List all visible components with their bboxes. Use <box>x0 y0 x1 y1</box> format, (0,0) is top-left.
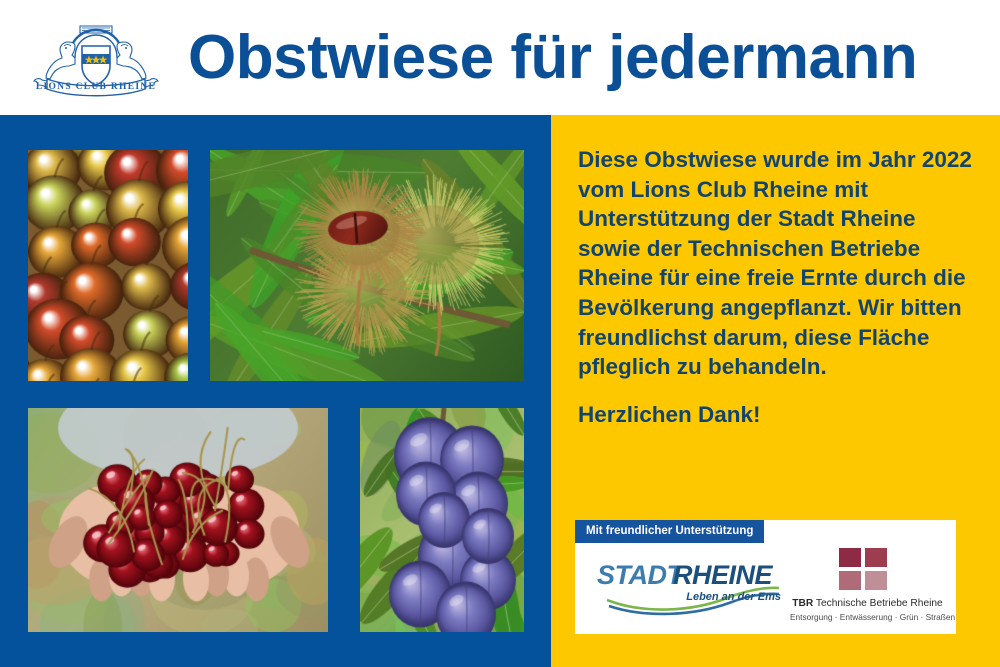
stadt-rheine-logo: STADT RHEINE Leben an der Ems <box>595 554 785 616</box>
poster: LIONS CLUB RHEINE Obstwiese für jederman… <box>0 0 1000 667</box>
stadt-tagline: Leben an der Ems <box>686 591 781 603</box>
tbr-logo: TBR Technische Betriebe Rheine Entsorgun… <box>790 548 945 626</box>
cherries-photo <box>28 408 328 632</box>
chestnut-photo <box>210 150 524 381</box>
tbr-full-name: Technische Betriebe Rheine <box>813 598 943 609</box>
tbr-square-bottom-right <box>865 571 887 590</box>
tbr-name: TBR Technische Betriebe Rheine <box>790 598 945 609</box>
header: LIONS CLUB RHEINE Obstwiese für jederman… <box>0 0 1000 115</box>
tbr-square-bottom-left <box>839 571 861 590</box>
page-title: Obstwiese für jedermann <box>188 14 917 102</box>
rheine-word: RHEINE <box>673 560 774 590</box>
info-paragraph: Diese Obstwiese wurde im Jahr 2022 vom L… <box>578 145 978 382</box>
lions-club-rheine-crest-icon: LIONS CLUB RHEINE <box>22 16 170 100</box>
tbr-services: Entsorgung · Entwässerung · Grün · Straß… <box>790 612 945 622</box>
sponsor-tab-label: Mit freundlicher Unterstützung <box>575 520 764 543</box>
tbr-square-top-right <box>865 548 887 567</box>
sponsor-box: Mit freundlicher Unterstützung STADT RHE… <box>575 520 956 634</box>
tbr-squares-icon <box>839 548 889 591</box>
thanks-line: Herzlichen Dank! <box>578 400 761 430</box>
crest-banner-label: LIONS CLUB RHEINE <box>36 82 156 92</box>
tbr-square-top-left <box>839 548 861 567</box>
plums-photo <box>360 408 524 632</box>
tbr-abbr: TBR <box>792 598 813 609</box>
apples-photo <box>28 150 188 381</box>
